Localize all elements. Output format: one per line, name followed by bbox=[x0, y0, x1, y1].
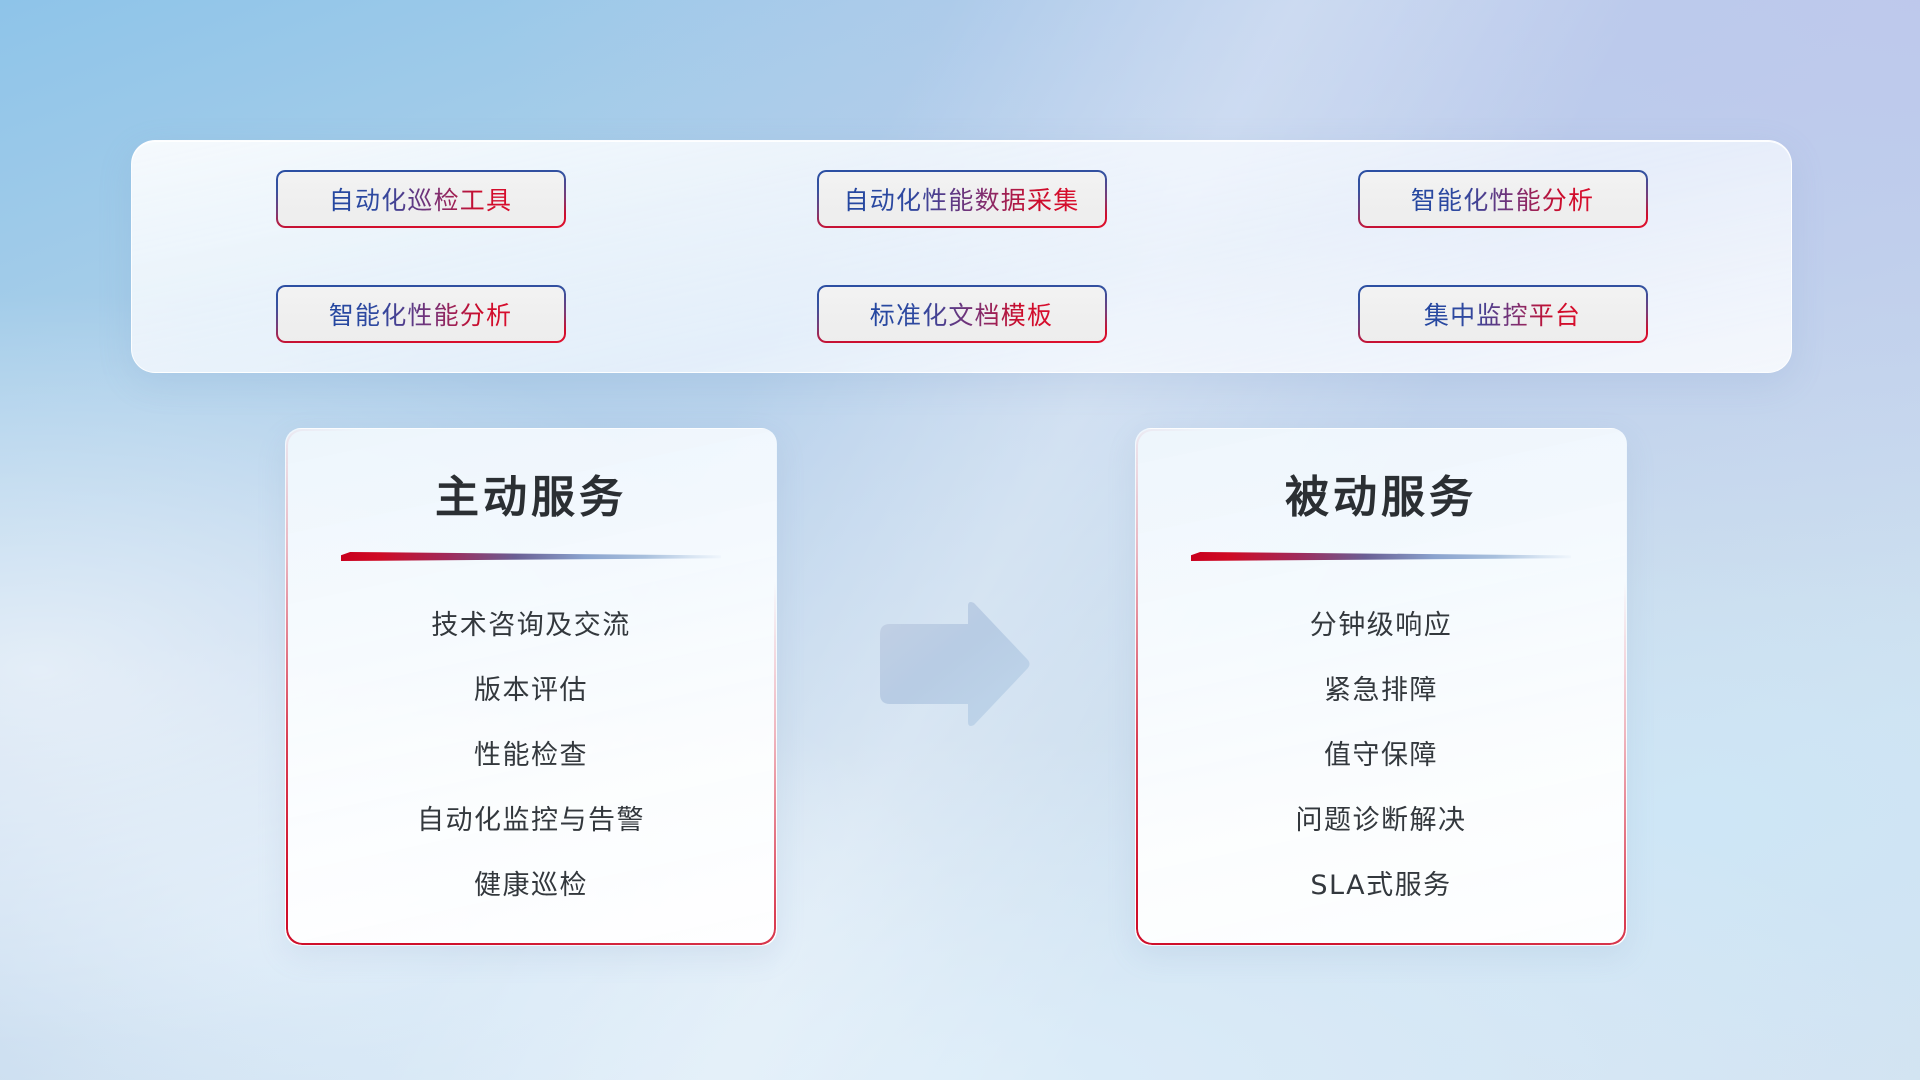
service-item: 健康巡检 bbox=[474, 863, 588, 902]
service-card-title: 被动服务 bbox=[1136, 461, 1626, 525]
service-item: 性能检查 bbox=[474, 733, 588, 772]
service-item: 紧急排障 bbox=[1324, 668, 1438, 707]
service-card-active: 主动服务 技术咨询及交流 版本评估 性能检查 自动化监控与告警 健康巡检 bbox=[285, 428, 777, 946]
capability-pill-label: 智能化性能分析 bbox=[1411, 181, 1594, 217]
capability-pill-label: 集中监控平台 bbox=[1424, 296, 1581, 332]
service-item: 值守保障 bbox=[1324, 733, 1438, 772]
capability-pill-2[interactable]: 自动化性能数据采集 bbox=[817, 170, 1107, 228]
service-card-divider bbox=[341, 551, 721, 561]
capability-pill-5[interactable]: 标准化文档模板 bbox=[817, 285, 1107, 343]
service-item: 技术咨询及交流 bbox=[431, 603, 631, 642]
service-item: 版本评估 bbox=[474, 668, 588, 707]
service-item: 自动化监控与告警 bbox=[417, 798, 645, 837]
capability-pill-label: 自动化巡检工具 bbox=[329, 181, 512, 217]
capability-pill-4[interactable]: 智能化性能分析 bbox=[276, 285, 566, 343]
capability-pill-1[interactable]: 自动化巡检工具 bbox=[276, 170, 566, 228]
service-item-list: 技术咨询及交流 版本评估 性能检查 自动化监控与告警 健康巡检 bbox=[286, 603, 776, 902]
divider-gradient-bar bbox=[341, 551, 721, 561]
capability-pill-label: 自动化性能数据采集 bbox=[844, 181, 1080, 217]
service-card-title: 主动服务 bbox=[286, 461, 776, 525]
capability-pill-6[interactable]: 集中监控平台 bbox=[1358, 285, 1648, 343]
capability-pill-3[interactable]: 智能化性能分析 bbox=[1358, 170, 1648, 228]
service-card-passive: 被动服务 分钟级响应 紧急排障 值守保障 问题诊断解决 SLA式服务 bbox=[1135, 428, 1627, 946]
service-card-divider bbox=[1191, 551, 1571, 561]
arrow-right-icon bbox=[872, 600, 1032, 728]
capability-pill-label: 标准化文档模板 bbox=[870, 296, 1053, 332]
service-item-list: 分钟级响应 紧急排障 值守保障 问题诊断解决 SLA式服务 bbox=[1136, 603, 1626, 902]
service-item: 问题诊断解决 bbox=[1296, 798, 1467, 837]
capability-pill-label: 智能化性能分析 bbox=[329, 296, 512, 332]
capability-panel: 自动化巡检工具 自动化性能数据采集 智能化性能分析 智能化性能分析 标准化文档模… bbox=[131, 140, 1792, 373]
service-item: 分钟级响应 bbox=[1310, 603, 1453, 642]
service-item: SLA式服务 bbox=[1310, 863, 1451, 902]
divider-gradient-bar bbox=[1191, 551, 1571, 561]
